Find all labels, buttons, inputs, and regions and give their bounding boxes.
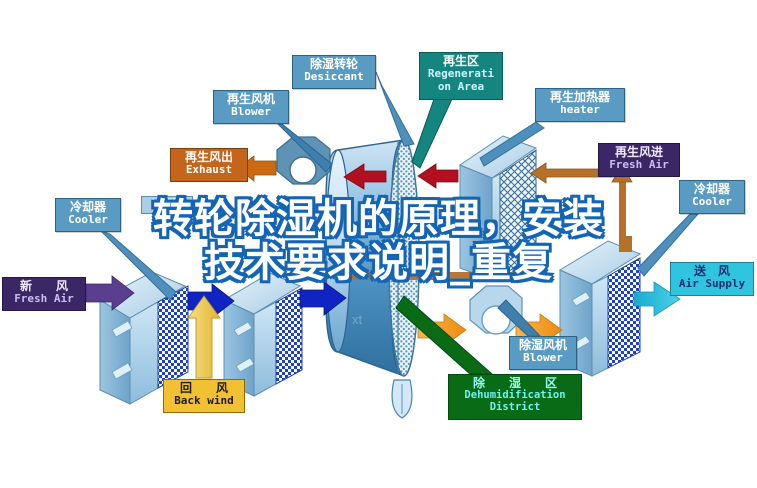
label-en-2: District	[453, 402, 577, 414]
label-en: Blower	[514, 352, 572, 364]
label-en: Fresh Air	[7, 293, 81, 305]
label-dehumidification-district: 除 湿 区DehumidificationDistrict	[448, 374, 582, 420]
label-regeneration-area: 再生区Regeneration Area	[419, 52, 503, 100]
label-fresh-air-in: 新 风Fresh Air	[2, 277, 86, 311]
label-desiccant-rotor: 除湿转轮Desiccant	[292, 55, 376, 89]
label-cn: 除 湿 区	[453, 377, 577, 390]
label-dehumidification-blower: 除湿风机Blower	[509, 336, 577, 370]
label-cn: 新 风	[7, 280, 81, 293]
label-en: Fresh Air	[603, 159, 675, 171]
center-cooler-coil	[224, 273, 302, 396]
label-cooler-center-small: 冷却器	[141, 196, 193, 214]
label-en: Exhaust	[175, 164, 243, 176]
schematic-illustration: xt	[0, 0, 757, 488]
label-en: Blower	[218, 106, 284, 118]
label-cn: 冷却器	[684, 183, 740, 196]
label-cn: 再生风机	[218, 93, 284, 106]
label-en-1: Regenerati	[424, 68, 498, 80]
label-cn: 再生区	[424, 55, 498, 68]
label-en: Desiccant	[297, 71, 371, 83]
regen-riser-arrow	[612, 165, 632, 252]
label-en: Air Supply	[675, 278, 749, 290]
label-en: heater	[540, 104, 620, 116]
label-en: Back wind	[168, 395, 240, 407]
label-regeneration-heater: 再生加热器heater	[535, 88, 625, 122]
label-cooler-right: 冷却器Cooler	[679, 180, 745, 214]
regen-hot-air-arrow-2	[418, 164, 458, 188]
label-en-2: on Area	[424, 81, 498, 93]
label-cn: 除湿转轮	[297, 58, 371, 71]
label-cn: 冷却器	[146, 199, 188, 210]
label-cn: 再生风进	[603, 146, 675, 159]
dehumidifier-diagram-image: xt 除湿转轮Desiccant再生风机Blower再生区Regeneratio…	[0, 0, 757, 488]
label-cooler-left: 冷却器Cooler	[55, 198, 121, 232]
label-exhaust: 再生风出Exhaust	[170, 148, 248, 182]
label-en: Cooler	[684, 196, 740, 208]
label-air-supply: 送 风Air Supply	[670, 262, 754, 296]
watermark-text: xt	[352, 312, 363, 327]
label-cn: 再生风出	[175, 151, 243, 164]
regen-lower-duct	[340, 272, 540, 280]
label-cn: 除湿风机	[514, 339, 572, 352]
label-en: Cooler	[60, 214, 116, 226]
label-cn: 再生加热器	[540, 91, 620, 104]
label-cn: 送 风	[675, 265, 749, 278]
label-cn: 回 风	[168, 382, 240, 395]
label-back-wind: 回 风Back wind	[163, 379, 245, 413]
label-regeneration-fresh-air-in: 再生风进Fresh Air	[598, 143, 680, 177]
label-regeneration-blower: 再生风机Blower	[213, 90, 289, 124]
label-cn: 冷却器	[60, 201, 116, 214]
